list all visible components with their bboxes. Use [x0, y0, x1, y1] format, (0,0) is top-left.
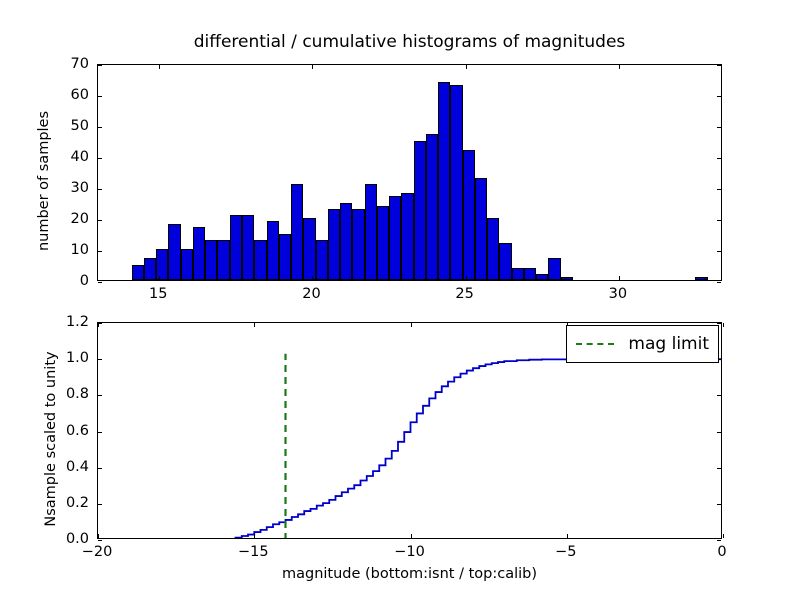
- cumulative-line: [98, 359, 721, 538]
- top-y-tick-right-70: [717, 65, 721, 66]
- top-y-tick-right-50: [717, 127, 721, 128]
- bottom-y-tick-right-3: [717, 432, 721, 433]
- histogram-bar: [168, 224, 180, 280]
- bottom-x-tick-bot-2: [411, 534, 412, 538]
- bottom-y-tick-right-0: [717, 540, 721, 541]
- histogram-bar: [156, 249, 168, 280]
- histogram-bar: [340, 203, 352, 281]
- histogram-bar: [548, 258, 560, 280]
- top-y-tick-0: [98, 282, 102, 283]
- histogram-bar: [389, 196, 401, 280]
- top-y-tick-right-10: [717, 251, 721, 252]
- mag-limit-legend-swatch: [576, 343, 614, 345]
- histogram-bar: [230, 215, 242, 280]
- top-y-ticklabel-0: 0: [41, 273, 89, 289]
- bottom-x-tick-4: [723, 323, 724, 327]
- bottom-x-ticklabel-0: −20: [82, 544, 113, 560]
- histogram-bar: [267, 221, 279, 280]
- bottom-x-tick-2: [411, 323, 412, 327]
- top-x-tick-25: [466, 65, 467, 69]
- top-y-tick-60: [98, 96, 102, 97]
- top-histogram-axes: [97, 64, 722, 281]
- bottom-x-tick-0: [98, 323, 99, 327]
- top-plot-area: [98, 65, 721, 280]
- histogram-bar: [316, 240, 328, 280]
- histogram-bar: [512, 268, 524, 280]
- histogram-bar: [242, 215, 254, 280]
- top-x-ticklabel-30: 30: [609, 286, 627, 302]
- histogram-bar: [414, 141, 426, 281]
- page-title: differential / cumulative histograms of …: [97, 32, 722, 52]
- top-x-tick-bot-15: [159, 276, 160, 280]
- top-y-tick-right-20: [717, 220, 721, 221]
- bottom-y-tick-right-4: [717, 395, 721, 396]
- bottom-y-tick-4: [98, 395, 102, 396]
- histogram-bar: [499, 243, 511, 280]
- top-y-axis-label: number of samples: [36, 101, 52, 261]
- bottom-y-tick-2: [98, 468, 102, 469]
- histogram-bar: [205, 240, 217, 280]
- histogram-bar: [144, 258, 156, 280]
- bottom-x-ticklabel-4: 0: [717, 544, 726, 560]
- bottom-y-tick-right-1: [717, 504, 721, 505]
- histogram-bar: [463, 150, 475, 280]
- top-y-tick-right-30: [717, 189, 721, 190]
- bottom-x-tick-bot-0: [98, 534, 99, 538]
- histogram-bar: [536, 274, 548, 280]
- x-axis-label: magnitude (bottom:isnt / top:calib): [97, 566, 722, 582]
- top-y-tick-10: [98, 251, 102, 252]
- bottom-y-tick-right-6: [717, 323, 721, 324]
- legend-label-mag-limit: mag limit: [628, 334, 709, 354]
- top-x-tick-15: [159, 65, 160, 69]
- top-x-tick-20: [312, 65, 313, 69]
- histogram-bar: [450, 85, 462, 280]
- bottom-y-axis-label: Nsample scaled to unity: [43, 339, 59, 539]
- top-y-tick-right-0: [717, 282, 721, 283]
- top-y-tick-30: [98, 189, 102, 190]
- top-y-tick-40: [98, 158, 102, 159]
- top-y-tick-20: [98, 220, 102, 221]
- top-x-tick-bot-30: [619, 276, 620, 280]
- bottom-cumulative-axes: mag limit: [97, 322, 722, 539]
- top-y-tick-right-40: [717, 158, 721, 159]
- top-x-tick-30: [619, 65, 620, 69]
- histogram-bar: [365, 184, 377, 280]
- histogram-bar: [217, 240, 229, 280]
- histogram-bar: [377, 206, 389, 280]
- bottom-x-ticklabel-3: −5: [555, 544, 576, 560]
- histogram-bar: [303, 218, 315, 280]
- bottom-x-tick-bot-3: [567, 534, 568, 538]
- figure-canvas: differential / cumulative histograms of …: [0, 0, 800, 600]
- legend-box: mag limit: [566, 325, 719, 363]
- bottom-x-ticklabel-2: −10: [394, 544, 425, 560]
- histogram-bar: [193, 227, 205, 280]
- histogram-bar: [487, 218, 499, 280]
- histogram-bar: [401, 193, 413, 280]
- histogram-bar: [254, 240, 266, 280]
- top-y-tick-right-60: [717, 96, 721, 97]
- bottom-x-tick-bot-1: [254, 534, 255, 538]
- top-x-tick-bot-25: [466, 276, 467, 280]
- bottom-x-tick-1: [254, 323, 255, 327]
- histogram-bar: [291, 184, 303, 280]
- histogram-bar: [524, 268, 536, 280]
- histogram-bar: [475, 178, 487, 280]
- histogram-bar: [561, 277, 573, 280]
- top-y-tick-70: [98, 65, 102, 66]
- bottom-y-tick-5: [98, 359, 102, 360]
- bottom-y-tick-right-2: [717, 468, 721, 469]
- histogram-bar: [181, 249, 193, 280]
- top-x-tick-bot-20: [312, 276, 313, 280]
- histogram-bar: [352, 209, 364, 280]
- histogram-bar: [328, 209, 340, 280]
- top-y-tick-50: [98, 127, 102, 128]
- bottom-y-tick-1: [98, 504, 102, 505]
- top-x-ticklabel-20: 20: [302, 286, 320, 302]
- histogram-bar: [695, 277, 707, 280]
- bottom-y-ticklabel-6: 1.2: [41, 314, 89, 330]
- bottom-x-ticklabel-1: −15: [238, 544, 269, 560]
- bottom-y-tick-0: [98, 540, 102, 541]
- histogram-bar: [279, 234, 291, 281]
- histogram-bar: [438, 82, 450, 280]
- top-x-ticklabel-15: 15: [149, 286, 167, 302]
- bottom-x-tick-bot-4: [723, 534, 724, 538]
- top-x-ticklabel-25: 25: [455, 286, 473, 302]
- bottom-y-tick-3: [98, 432, 102, 433]
- top-y-ticklabel-70: 70: [41, 56, 89, 72]
- histogram-bar: [426, 134, 438, 280]
- histogram-bar: [132, 265, 144, 281]
